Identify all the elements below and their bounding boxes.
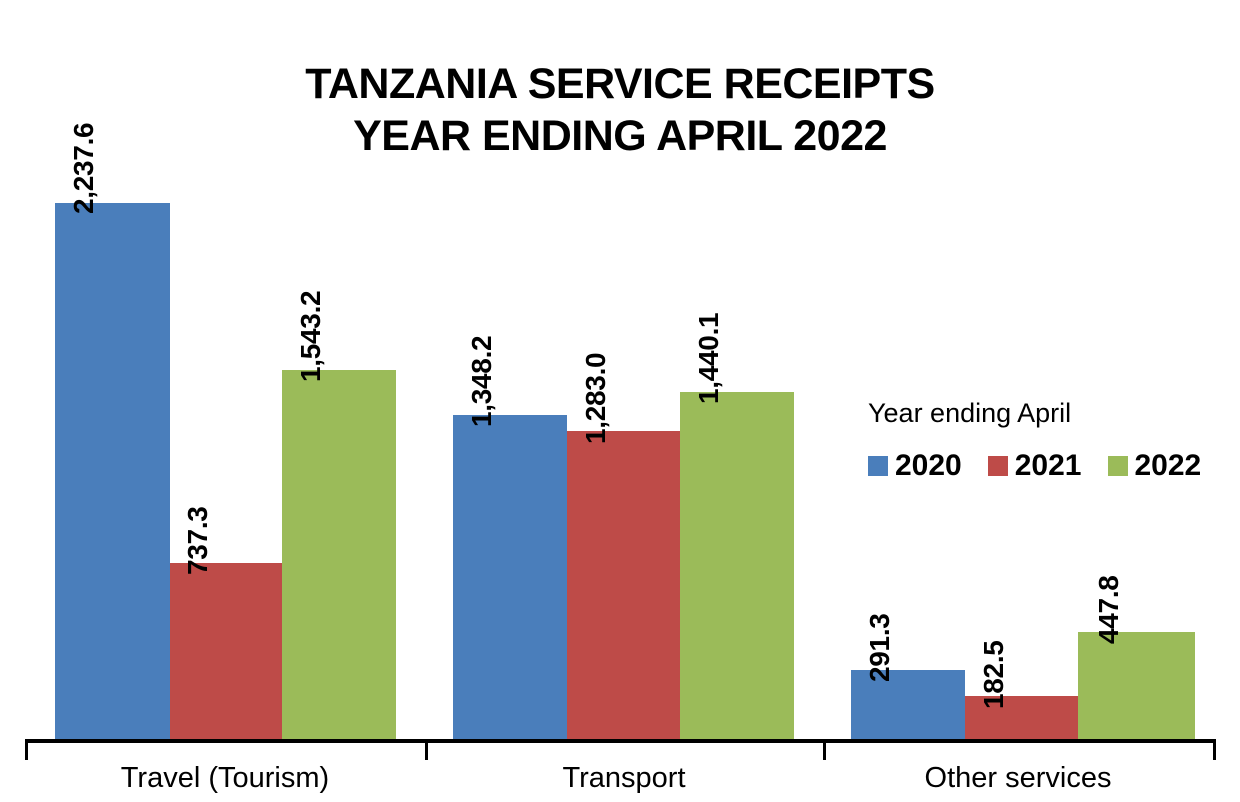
category-label-other-services: Other services [823, 762, 1213, 795]
x-axis-tick-2 [823, 743, 826, 760]
bar-value-travel-2020: 2,237.6 [68, 123, 100, 214]
legend-item-2020[interactable]: 2020 [868, 451, 962, 481]
legend-swatch-icon-2022 [1108, 456, 1128, 476]
legend-items: 2020 2021 2022 [868, 451, 1208, 481]
bar-chart: TANZANIA SERVICE RECEIPTS YEAR ENDING AP… [0, 0, 1240, 802]
legend-item-2022[interactable]: 2022 [1108, 451, 1202, 481]
bar-value-travel-2021: 737.3 [182, 506, 214, 575]
legend-title: Year ending April [868, 398, 1208, 429]
bar-travel-2020[interactable] [55, 203, 170, 740]
bar-transport-2022[interactable] [680, 392, 794, 740]
bar-transport-2021[interactable] [567, 431, 680, 740]
bar-other-2022[interactable] [1078, 632, 1195, 740]
bar-value-transport-2022: 1,440.1 [693, 313, 725, 404]
legend-swatch-icon-2021 [988, 456, 1008, 476]
x-axis-tick-left [25, 743, 28, 760]
legend-label-2021: 2021 [1015, 451, 1082, 481]
bar-value-other-2020: 291.3 [864, 613, 896, 682]
bar-value-travel-2022: 1,543.2 [295, 291, 327, 382]
category-label-travel: Travel (Tourism) [25, 762, 425, 795]
x-axis-tick-1 [425, 743, 428, 760]
x-axis-line [25, 739, 1216, 743]
bar-value-other-2021: 182.5 [978, 640, 1010, 709]
bar-value-transport-2021: 1,283.0 [580, 353, 612, 444]
bar-transport-2020[interactable] [453, 415, 567, 740]
bar-travel-2022[interactable] [282, 370, 396, 740]
x-axis-tick-right [1213, 743, 1216, 760]
bar-travel-2021[interactable] [170, 563, 282, 740]
legend: Year ending April 2020 2021 2022 [868, 398, 1208, 481]
category-label-transport: Transport [425, 762, 823, 795]
bar-value-other-2022: 447.8 [1093, 575, 1125, 644]
legend-swatch-icon-2020 [868, 456, 888, 476]
legend-label-2022: 2022 [1135, 451, 1202, 481]
legend-label-2020: 2020 [895, 451, 962, 481]
legend-item-2021[interactable]: 2021 [988, 451, 1082, 481]
bar-value-transport-2020: 1,348.2 [466, 336, 498, 427]
